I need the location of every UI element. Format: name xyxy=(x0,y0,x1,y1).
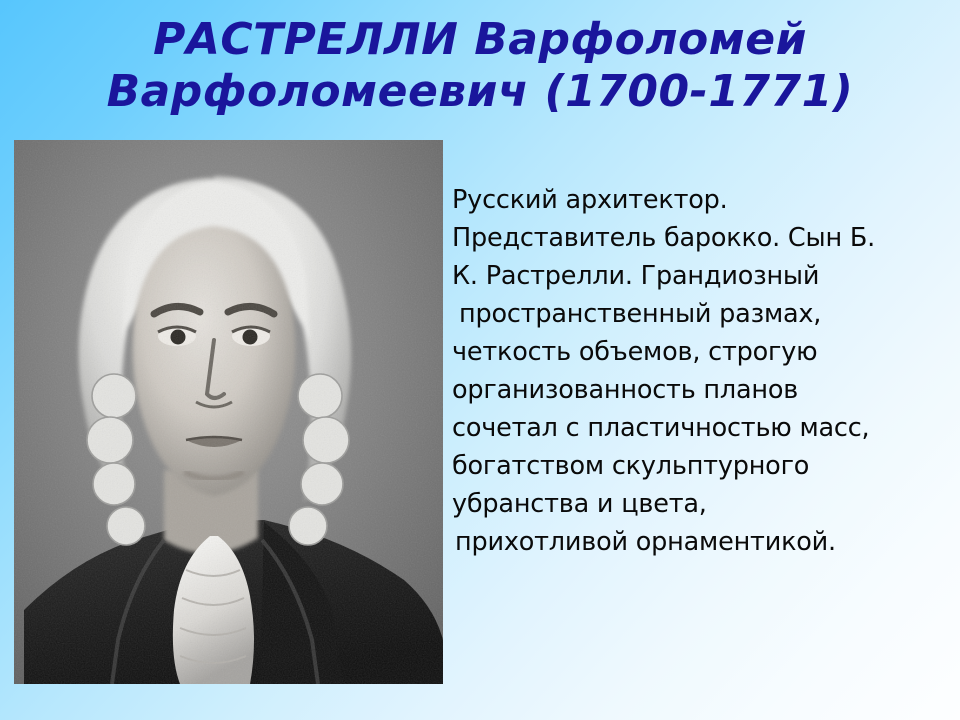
description-line-2: Представитель барокко. Сын Б. xyxy=(452,219,952,257)
slide-canvas: РАСТРЕЛЛИ Варфоломей Варфоломеевич (1700… xyxy=(0,0,960,720)
page-title: РАСТРЕЛЛИ Варфоломей Варфоломеевич (1700… xyxy=(0,14,960,118)
description-line-8: богатством скульптурного xyxy=(452,447,952,485)
description-line-5: четкость объемов, строгую xyxy=(452,333,952,371)
title-line-1: РАСТРЕЛЛИ Варфоломей xyxy=(0,14,960,66)
description-text: Русский архитектор. Представитель барокк… xyxy=(452,181,952,561)
portrait-illustration xyxy=(14,140,443,684)
description-line-4: пространственный размах, xyxy=(452,295,952,333)
description-line-1: Русский архитектор. xyxy=(452,181,952,219)
description-line-10: прихотливой орнаментикой. xyxy=(452,523,952,561)
description-line-9: убранства и цвета, xyxy=(452,485,952,523)
description-line-6: организованность планов xyxy=(452,371,952,409)
portrait-image xyxy=(14,140,443,684)
description-line-3: К. Растрелли. Грандиозный xyxy=(452,257,952,295)
description-line-7: сочетал с пластичностью масс, xyxy=(452,409,952,447)
title-line-2: Варфоломеевич (1700-1771) xyxy=(0,66,960,118)
